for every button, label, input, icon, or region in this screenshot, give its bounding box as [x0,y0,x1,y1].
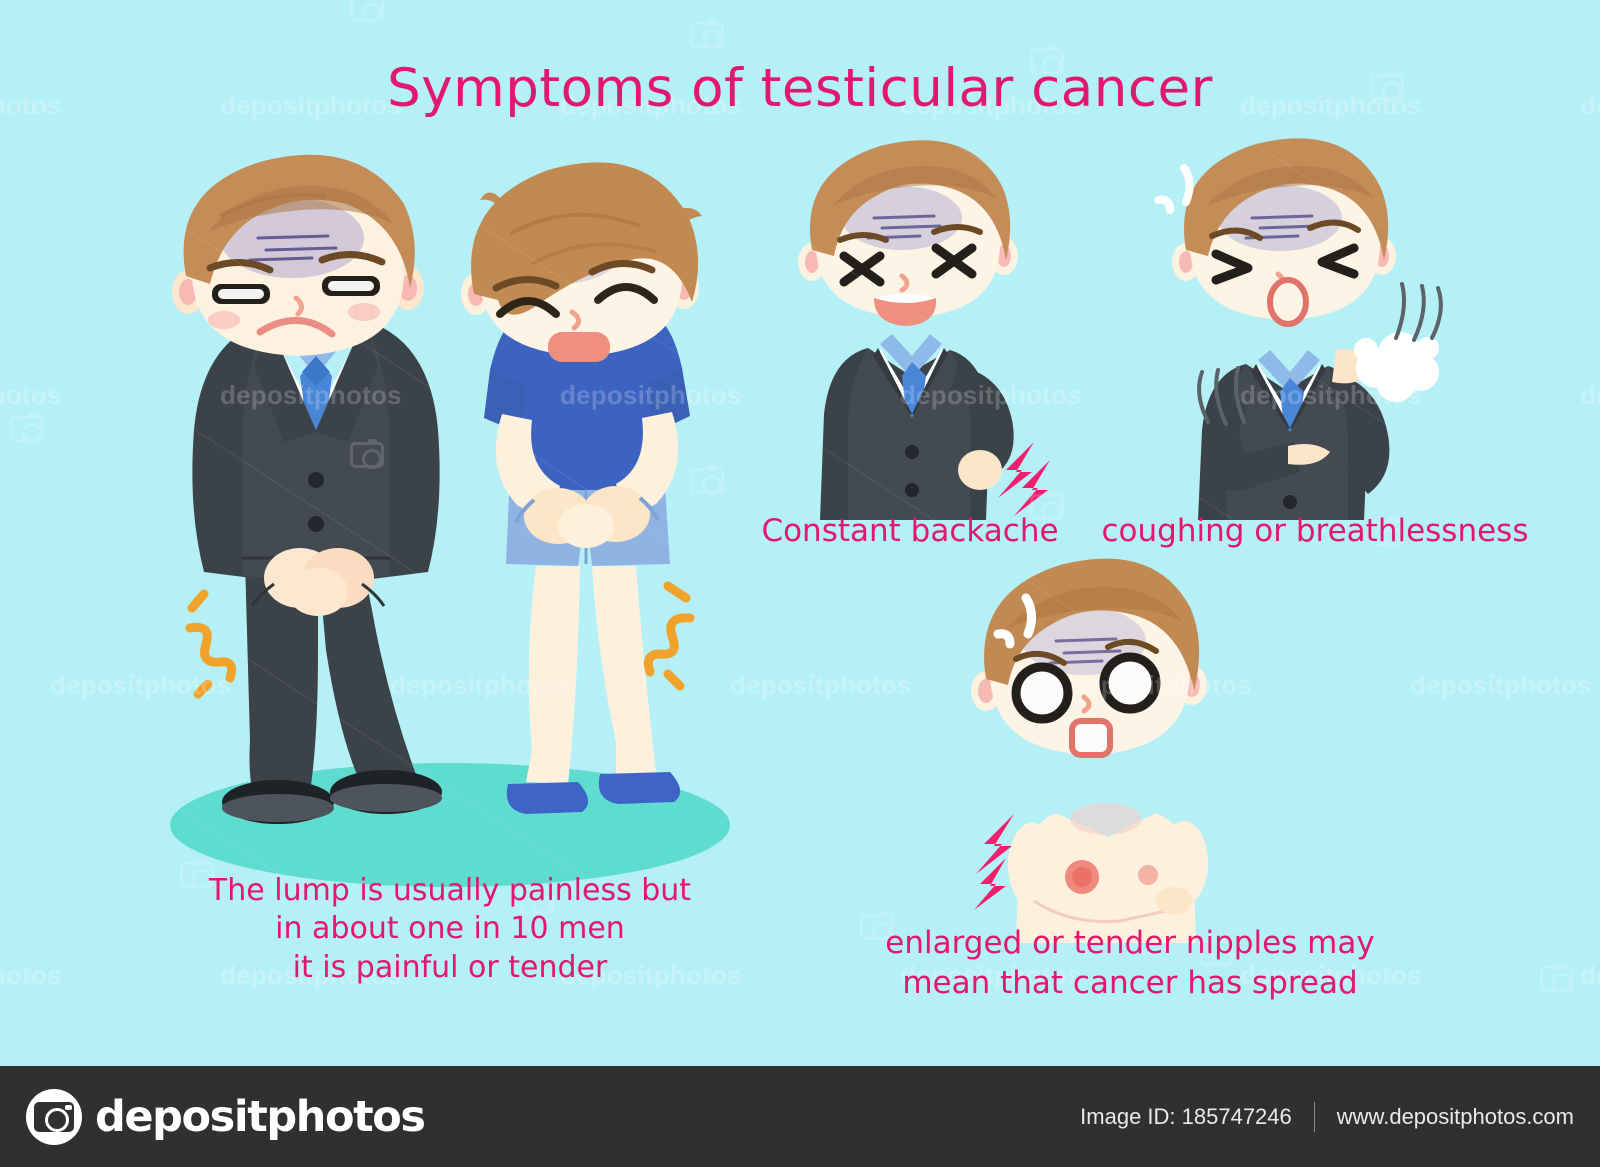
caption-lump-line2: in about one in 10 men [150,910,750,948]
caption-backache: Constant backache [740,512,1080,552]
figure-businessman-groin [150,180,480,830]
pain-lightning-chest [966,812,1036,896]
footer-brand: depositphotos [26,1089,425,1145]
pain-lightning-back [992,440,1062,520]
divider [1314,1102,1315,1132]
footer-meta: Image ID: 185747246 www.depositphotos.co… [1080,1102,1574,1132]
figure-boy-groin [440,190,730,830]
sparkle-icon-cough [1148,160,1206,224]
caption-nipples-line2: mean that cancer has spread [840,964,1420,1004]
image-id-label: Image ID: 185747246 [1080,1104,1292,1130]
page-title: Symptoms of testicular cancer [0,58,1600,119]
sparkle-icon-nipples [986,590,1046,656]
caption-nipples: enlarged or tender nipples may mean that… [840,924,1420,1003]
caption-lump: The lump is usually painless but in abou… [150,872,750,987]
pain-squiggle-left [182,588,242,698]
caption-nipples-line1: enlarged or tender nipples may [840,924,1420,964]
caption-coughing: coughing or breathlessness [1080,512,1550,552]
caption-lump-line3: it is painful or tender [150,949,750,987]
caption-lump-line1: The lump is usually painless but [150,872,750,910]
website-label: www.depositphotos.com [1337,1104,1574,1130]
camera-icon [26,1089,82,1145]
motion-lines-right [1386,278,1446,348]
footer-bar: depositphotos Image ID: 185747246 www.de… [0,1066,1600,1167]
pain-squiggle-right [652,580,712,690]
motion-lines-left [1198,360,1256,430]
brand-name: depositphotos [95,1092,425,1142]
